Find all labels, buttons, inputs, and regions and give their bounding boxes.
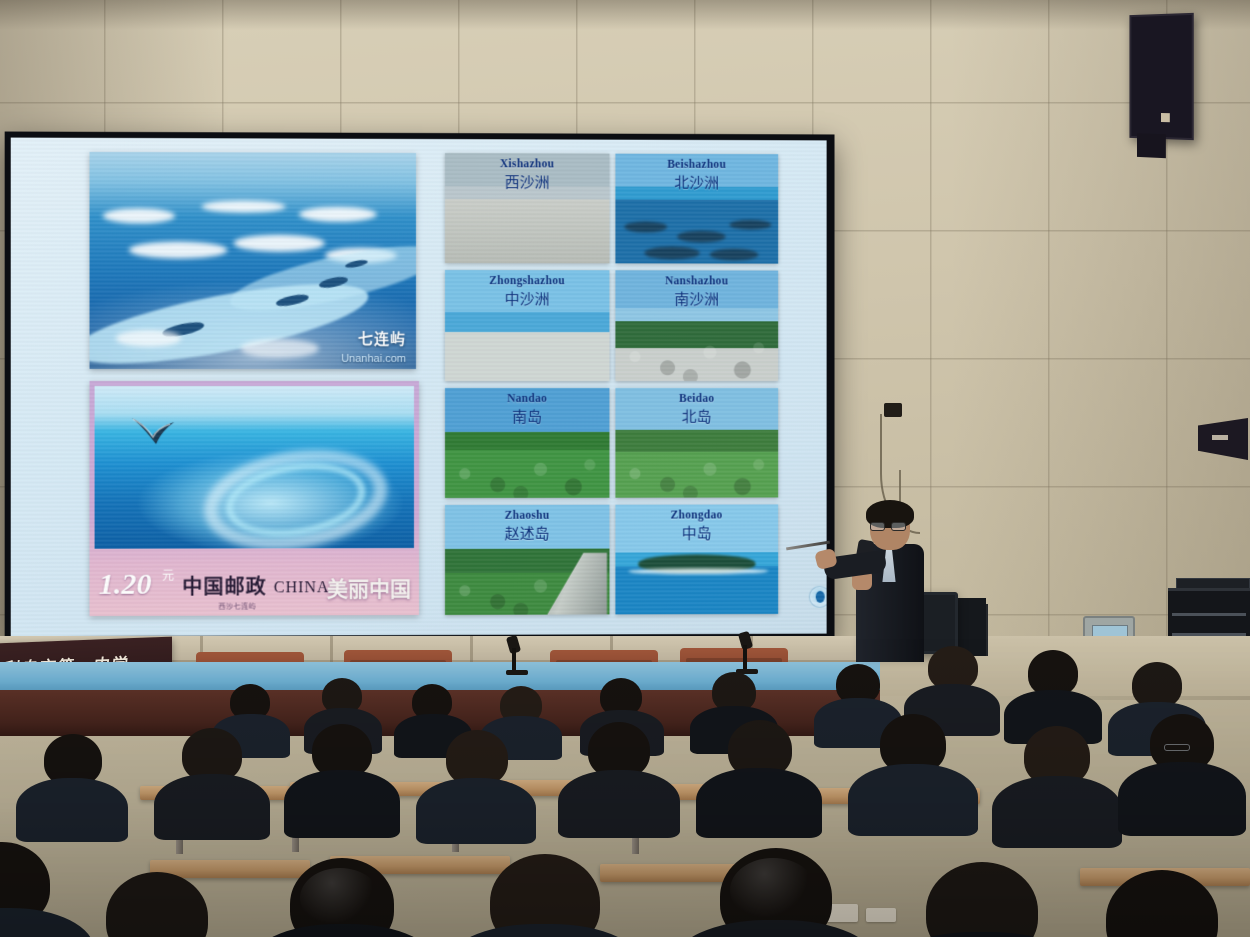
desk-paper — [866, 908, 896, 922]
stamp-price: 1.20 — [99, 568, 152, 602]
aerial-photo-caption: 七连屿 — [358, 328, 406, 349]
stamp-currency: 元 — [162, 567, 174, 584]
island-cell-nandao: Nandao 南岛 — [445, 388, 609, 498]
presentation-slide[interactable]: 七连屿 Unanhai.com 1.20 元 中国邮政 CHINA 美丽中国 西… — [11, 138, 827, 637]
speaker-mount — [1137, 133, 1166, 158]
island-label-en: Beishazhou — [615, 159, 778, 171]
island-cell-zhongdao: Zhongdao 中岛 — [615, 504, 778, 614]
ceiling-edge — [0, 0, 1250, 30]
audience-shoulders — [992, 776, 1122, 848]
island-cell-zhaoshu: Zhaoshu 赵述岛 — [445, 504, 609, 614]
island-cell-beishazhou: Beishazhou 北沙洲 — [615, 154, 778, 264]
audience-shoulders — [16, 778, 128, 842]
island-label-cn: 北岛 — [615, 405, 778, 426]
audience-shoulders — [284, 770, 400, 838]
audience-glasses-icon — [1164, 744, 1190, 751]
stamp-atoll-photo — [95, 386, 414, 549]
stamp-caption-bar: 1.20 元 中国邮政 CHINA 美丽中国 西沙七连屿 — [90, 551, 419, 616]
audience-shoulders — [848, 764, 978, 836]
presenter-glasses-icon — [870, 522, 910, 531]
hair-highlight — [730, 858, 816, 922]
aerial-photo-watermark: Unanhai.com — [341, 353, 406, 365]
stamp-subtitle: 西沙七连屿 — [218, 601, 256, 611]
audience-shoulders — [696, 768, 822, 838]
island-label-en: Zhongshazhou — [445, 275, 609, 287]
qilianyu-aerial-photo: 七连屿 Unanhai.com — [90, 152, 416, 369]
seabird-icon — [130, 414, 176, 448]
island-label-cn: 赵述岛 — [445, 522, 609, 543]
audience-shoulders — [878, 932, 1086, 937]
island-label-cn: 西沙洲 — [445, 171, 609, 192]
audience-shoulders — [416, 778, 536, 844]
island-label-cn: 中岛 — [615, 522, 778, 543]
audience-shoulders — [558, 770, 680, 838]
audience-shoulders — [0, 908, 94, 937]
audience-seating — [0, 636, 1250, 937]
stamp-issuer-cn: 中国邮政 — [182, 570, 266, 599]
island-label-en: Nanshazhou — [615, 276, 778, 288]
china-post-stamp: 1.20 元 中国邮政 CHINA 美丽中国 西沙七连屿 — [90, 381, 419, 616]
audience-shoulders — [672, 920, 878, 937]
island-label-en: Zhongdao — [615, 509, 778, 521]
wall-speaker — [1129, 13, 1193, 140]
audience-shoulders — [444, 924, 644, 937]
island-label-cn: 南岛 — [445, 405, 609, 426]
audience-shoulders — [154, 774, 270, 840]
island-cell-nanshazhou: Nanshazhou 南沙洲 — [615, 271, 778, 381]
island-label-cn: 北沙洲 — [615, 172, 778, 193]
island-label-cn: 中沙洲 — [445, 288, 609, 309]
island-cell-beidao: Beidao 北岛 — [615, 388, 778, 498]
projection-screen[interactable]: 七连屿 Unanhai.com 1.20 元 中国邮政 CHINA 美丽中国 西… — [5, 132, 835, 645]
audience-shoulders — [1118, 762, 1246, 836]
island-photo-grid: Xishazhou 西沙洲 Beishazhou 北沙洲 Zhongshazho… — [445, 153, 778, 615]
island-label-en: Beidao — [615, 392, 778, 404]
bracket-slot — [1212, 435, 1228, 440]
hair-highlight — [300, 868, 380, 928]
stamp-issuer-en: CHINA — [274, 579, 330, 597]
island-cell-zhongshazhou: Zhongshazhou 中沙洲 — [445, 270, 609, 380]
island-label-cn: 南沙洲 — [615, 289, 778, 310]
slide-bullet-marker — [809, 586, 827, 608]
island-label-en: Nandao — [445, 392, 609, 404]
island-label-en: Zhaoshu — [445, 509, 609, 521]
audience-head — [926, 862, 1038, 937]
stamp-series-cn: 美丽中国 — [327, 573, 411, 603]
island-cell-xishazhou: Xishazhou 西沙洲 — [445, 153, 609, 264]
speaker-led-icon — [1161, 113, 1170, 122]
island-label-en: Xishazhou — [445, 158, 609, 170]
audience-head — [106, 872, 208, 937]
